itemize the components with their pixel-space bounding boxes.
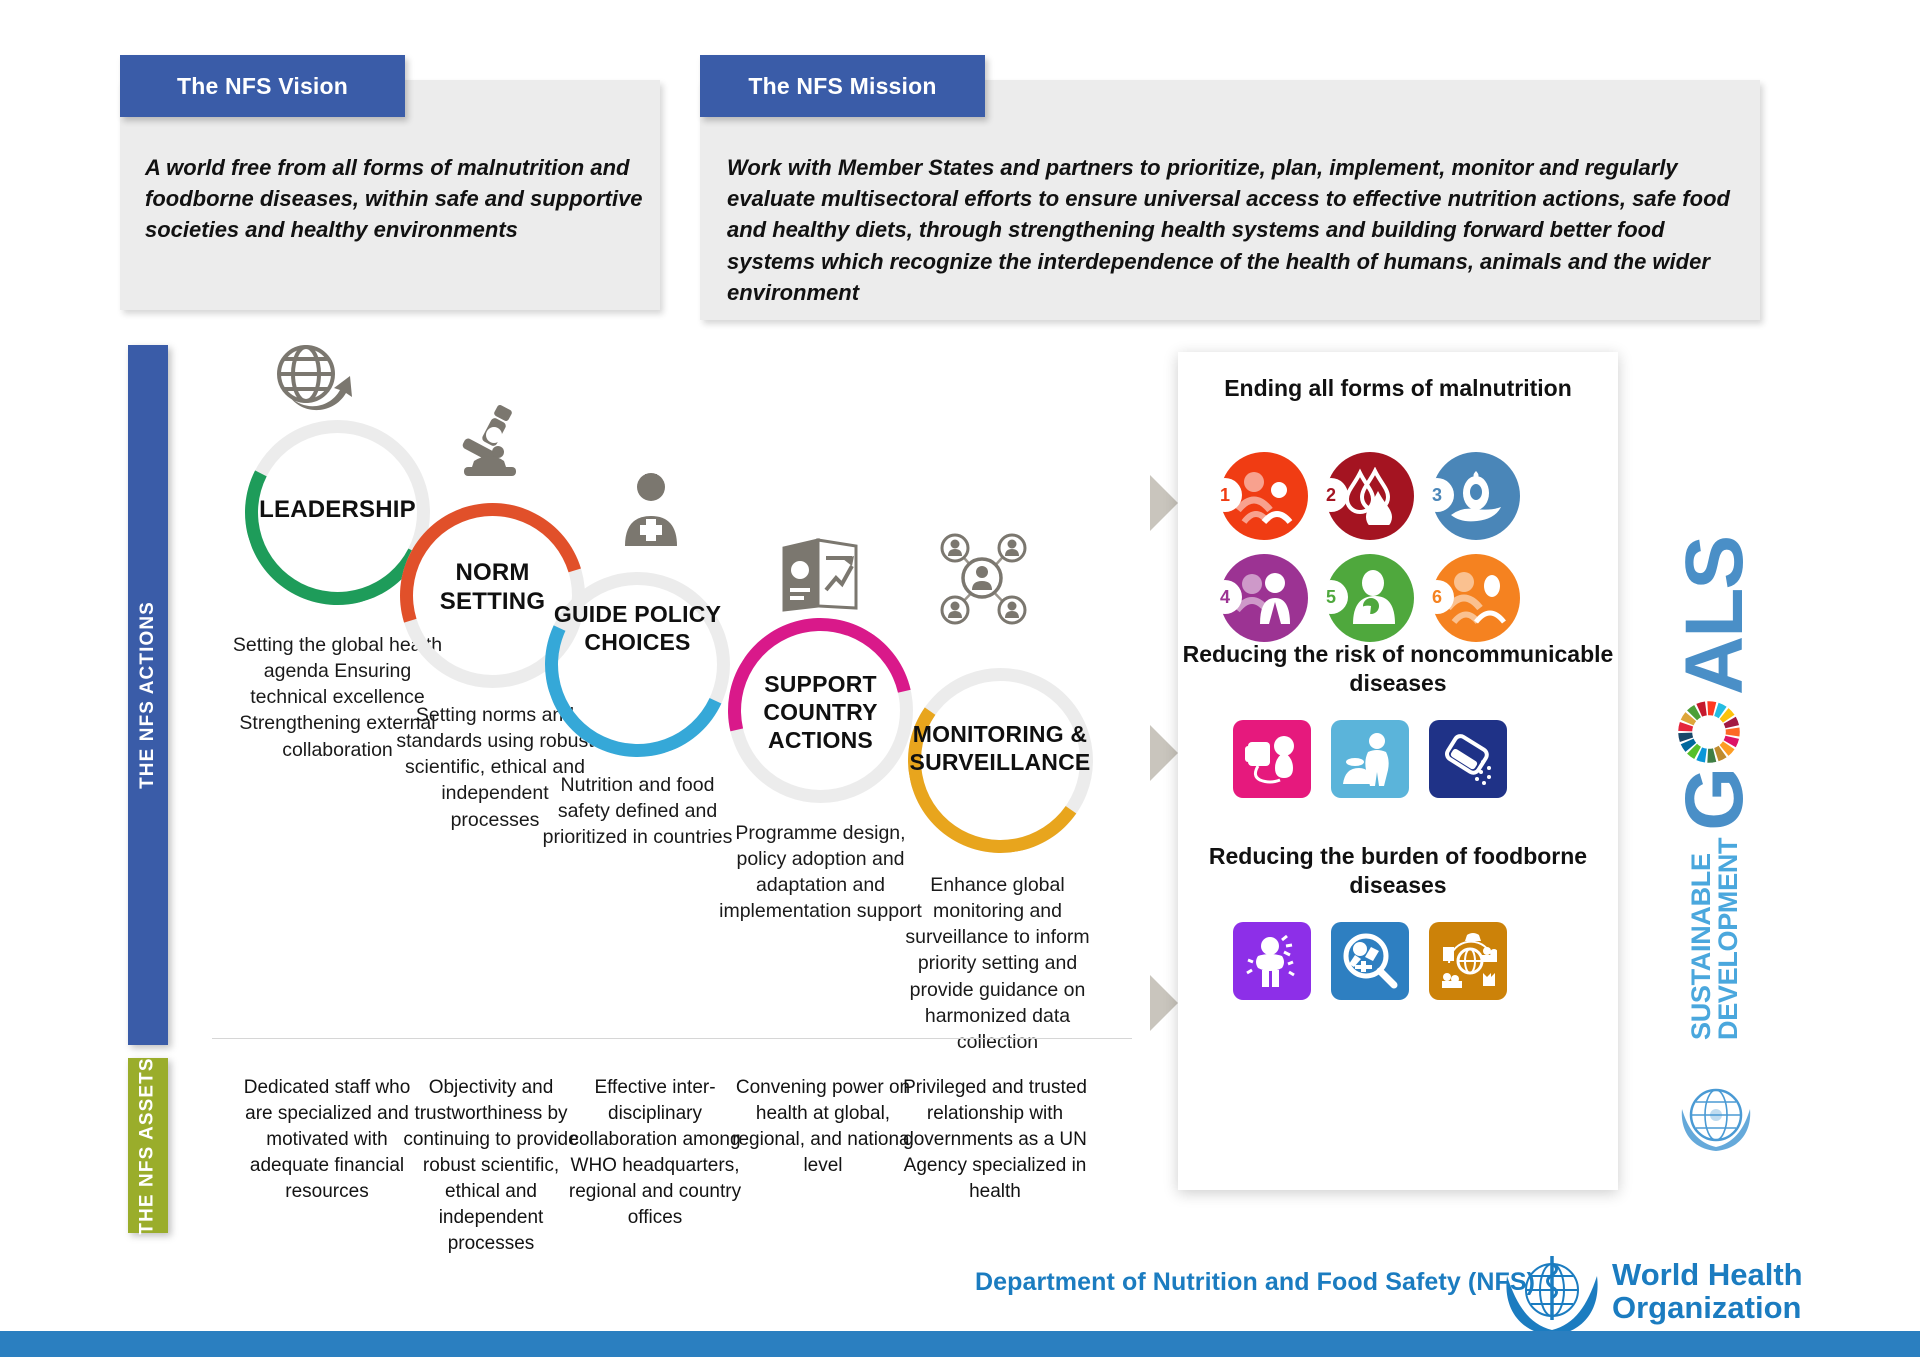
support-country-title: SUPPORT COUNTRY ACTIONS (728, 670, 913, 754)
malnutrition-badge-grid: 1 2 3 (1220, 452, 1520, 642)
bottom-accent-bar (0, 1331, 1920, 1357)
report-chart-icon (778, 536, 862, 614)
flow-arrow-middle (1150, 725, 1178, 781)
mission-tab-label: The NFS Mission (700, 55, 985, 117)
who-line-1: World Health (1612, 1258, 1803, 1291)
sdg-logo-goals-post: ALS (1676, 537, 1754, 695)
ncd-icon-2 (1331, 720, 1409, 798)
guide-policy-description: Nutrition and food safety defined and pr… (535, 772, 740, 850)
nfs-actions-side-label: THE NFS ACTIONS (137, 601, 159, 789)
sdg-badge-1-number: 1 (1208, 478, 1242, 512)
who-organization-name: World Health Organization (1612, 1258, 1803, 1325)
asset-column-1: Dedicated staff who are specialized and … (232, 1075, 422, 1205)
malnutrition-heading: Ending all forms of malnutrition (1178, 374, 1618, 403)
monitoring-description: Enhance global monitoring and surveillan… (890, 872, 1105, 1055)
who-emblem-icon (1497, 1250, 1607, 1342)
sdg-color-wheel-icon (1674, 697, 1756, 767)
salt-shaker-icon (1439, 732, 1497, 786)
obesity-person-icon (1341, 732, 1399, 786)
sdg-badge-2-number: 2 (1314, 478, 1348, 512)
asset-column-5: Privileged and trusted relationship with… (900, 1075, 1090, 1205)
nfs-assets-side-label: THE NFS ASSETS (137, 1057, 159, 1234)
foodborne-heading: Reducing the burden of foodborne disease… (1178, 842, 1618, 900)
nfs-actions-side-bar: THE NFS ACTIONS (128, 345, 168, 1045)
sdg-badge-3: 3 (1432, 452, 1520, 540)
footer-department-label: Department of Nutrition and Food Safety … (975, 1268, 1535, 1297)
vision-text: A world free from all forms of malnutrit… (145, 152, 655, 246)
food-microscope-magnifier-icon (1341, 933, 1399, 989)
sdg-badge-1: 1 (1220, 452, 1308, 540)
nfs-assets-side-bar: THE NFS ASSETS (128, 1058, 168, 1233)
ncd-icon-1 (1233, 720, 1311, 798)
asset-column-2: Objectivity and trustworthiness by conti… (396, 1075, 586, 1257)
stunting-people-icon (1234, 468, 1294, 524)
stomach-ache-icon (1244, 934, 1300, 988)
foodborne-icon-3 (1429, 922, 1507, 1000)
assets-divider (212, 1038, 1132, 1039)
sdg-logo-line2: DEVELOPMENT (1715, 838, 1742, 1040)
sdg-outcomes-panel: Ending all forms of malnutrition 1 2 (1178, 352, 1618, 1190)
foodborne-icon-1 (1233, 922, 1311, 1000)
globe-arrow-icon (272, 342, 356, 414)
sdg-badge-6-number: 6 (1420, 580, 1454, 614)
sdg-badge-5-number: 5 (1314, 580, 1348, 614)
sdg-badge-6: 6 (1432, 554, 1520, 642)
sdg-logo-goals-pre: G (1676, 769, 1754, 831)
monitoring-title: MONITORING & SURVEILLANCE (895, 720, 1105, 776)
mother-child-icon (1341, 570, 1399, 626)
sdg-badge-5: 5 (1326, 554, 1414, 642)
ncd-icon-row (1233, 720, 1507, 798)
network-people-icon (925, 528, 1040, 628)
leadership-title: LEADERSHIP (245, 495, 430, 524)
microscope-icon (450, 405, 530, 481)
global-food-system-icon (1439, 933, 1497, 989)
vision-tab-label: The NFS Vision (120, 55, 405, 117)
guide-policy-title: GUIDE POLICY CHOICES (545, 600, 730, 656)
wasting-people-icon (1446, 570, 1506, 626)
infographic-root: The NFS Vision A world free from all for… (0, 0, 1920, 1357)
sdg-badge-2: 2 (1326, 452, 1414, 540)
who-line-2: Organization (1612, 1291, 1803, 1324)
sdg-logo-line1: SUSTAINABLE (1688, 838, 1715, 1040)
sdg-badge-3-number: 3 (1420, 478, 1454, 512)
asset-column-3: Effective inter-disciplinary collaborati… (560, 1075, 750, 1231)
un-emblem-icon (1672, 1075, 1760, 1163)
ncd-heading: Reducing the risk of noncommunicable dis… (1178, 640, 1618, 698)
asset-column-4: Convening power on health at global, reg… (728, 1075, 918, 1179)
doctor-icon (615, 470, 687, 546)
flow-arrow-bottom (1150, 975, 1178, 1031)
blood-pressure-icon (1244, 732, 1300, 786)
foodborne-icon-row (1233, 922, 1507, 1000)
overweight-people-icon (1234, 570, 1294, 626)
mission-text: Work with Member States and partners to … (727, 152, 1737, 308)
sdg-badge-4: 4 (1220, 554, 1308, 642)
flow-arrow-top (1150, 475, 1178, 531)
sdg-badge-4-number: 4 (1208, 580, 1242, 614)
sdg-logo: SUSTAINABLE DEVELOPMENT G ALS (1640, 400, 1790, 1040)
blood-drops-icon (1342, 467, 1398, 525)
foodborne-icon-2 (1331, 922, 1409, 1000)
breastfeeding-hand-icon (1447, 467, 1505, 525)
ncd-icon-3 (1429, 720, 1507, 798)
